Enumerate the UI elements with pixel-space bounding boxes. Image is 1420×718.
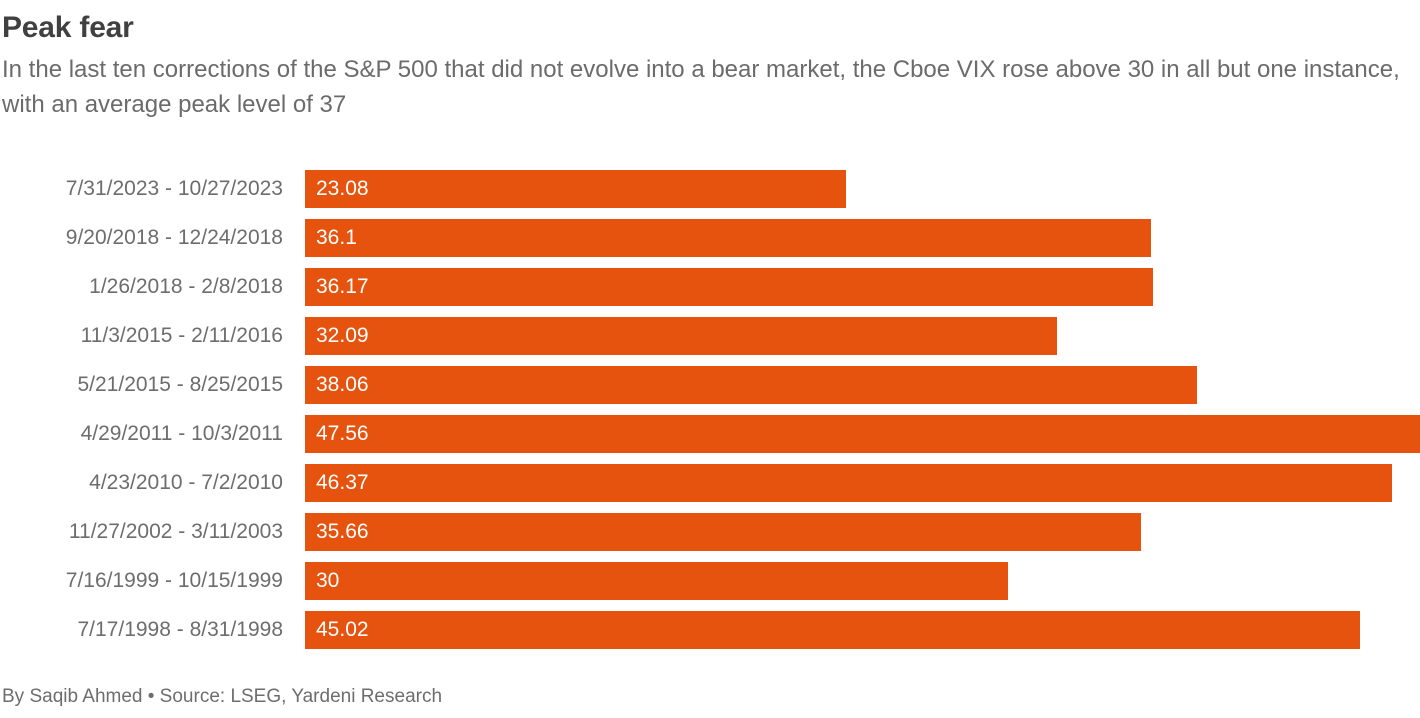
bar[interactable]: 36.1 <box>305 219 1151 257</box>
bar-track: 47.56 <box>305 415 1420 453</box>
bar-value-label: 35.66 <box>305 513 369 551</box>
category-label: 5/21/2015 - 8/25/2015 <box>0 366 283 404</box>
bar-value-label: 30 <box>305 562 339 600</box>
category-label: 4/29/2011 - 10/3/2011 <box>0 415 283 453</box>
page-title: Peak fear <box>2 10 1420 46</box>
bar-track: 38.06 <box>305 366 1420 404</box>
bar-track: 23.08 <box>305 170 1420 208</box>
bar-track: 32.09 <box>305 317 1420 355</box>
bar-track: 46.37 <box>305 464 1420 502</box>
bar-row: 1/26/2018 - 2/8/201836.17 <box>0 268 1420 306</box>
bar[interactable]: 47.56 <box>305 415 1420 453</box>
bar-row: 4/23/2010 - 7/2/201046.37 <box>0 464 1420 502</box>
chart-subtitle: In the last ten corrections of the S&P 5… <box>2 52 1402 122</box>
category-label: 11/27/2002 - 3/11/2003 <box>0 513 283 551</box>
bar-value-label: 36.17 <box>305 268 369 306</box>
category-label: 9/20/2018 - 12/24/2018 <box>0 219 283 257</box>
category-label: 7/31/2023 - 10/27/2023 <box>0 170 283 208</box>
bar-row: 7/16/1999 - 10/15/199930 <box>0 562 1420 600</box>
category-label: 4/23/2010 - 7/2/2010 <box>0 464 283 502</box>
bar-track: 30 <box>305 562 1420 600</box>
bar-track: 36.17 <box>305 268 1420 306</box>
bar-track: 45.02 <box>305 611 1420 649</box>
bar-value-label: 47.56 <box>305 415 369 453</box>
bar[interactable]: 36.17 <box>305 268 1153 306</box>
bar-track: 36.1 <box>305 219 1420 257</box>
chart-figure: Peak fear In the last ten corrections of… <box>0 0 1420 718</box>
bar[interactable]: 32.09 <box>305 317 1057 355</box>
category-label: 11/3/2015 - 2/11/2016 <box>0 317 283 355</box>
bar-track: 35.66 <box>305 513 1420 551</box>
bar-value-label: 45.02 <box>305 611 369 649</box>
bar[interactable]: 35.66 <box>305 513 1141 551</box>
bar-value-label: 23.08 <box>305 170 369 208</box>
bar-row: 9/20/2018 - 12/24/201836.1 <box>0 219 1420 257</box>
bar-row: 11/27/2002 - 3/11/200335.66 <box>0 513 1420 551</box>
bar-chart-plot-area: 7/31/2023 - 10/27/202323.089/20/2018 - 1… <box>0 170 1420 662</box>
chart-header: Peak fear In the last ten corrections of… <box>0 0 1420 122</box>
bar[interactable]: 45.02 <box>305 611 1360 649</box>
bar-row: 5/21/2015 - 8/25/201538.06 <box>0 366 1420 404</box>
bar-row: 7/31/2023 - 10/27/202323.08 <box>0 170 1420 208</box>
bar[interactable]: 38.06 <box>305 366 1197 404</box>
category-label: 7/16/1999 - 10/15/1999 <box>0 562 283 600</box>
bar[interactable]: 23.08 <box>305 170 846 208</box>
bar-row: 11/3/2015 - 2/11/201632.09 <box>0 317 1420 355</box>
category-label: 1/26/2018 - 2/8/2018 <box>0 268 283 306</box>
bar-row: 4/29/2011 - 10/3/201147.56 <box>0 415 1420 453</box>
bar-value-label: 36.1 <box>305 219 357 257</box>
bar-row: 7/17/1998 - 8/31/199845.02 <box>0 611 1420 649</box>
bar-value-label: 38.06 <box>305 366 369 404</box>
chart-credit-source: By Saqib Ahmed • Source: LSEG, Yardeni R… <box>2 684 442 710</box>
bar[interactable]: 30 <box>305 562 1008 600</box>
category-label: 7/17/1998 - 8/31/1998 <box>0 611 283 649</box>
bar-value-label: 32.09 <box>305 317 369 355</box>
bar[interactable]: 46.37 <box>305 464 1392 502</box>
bar-value-label: 46.37 <box>305 464 369 502</box>
